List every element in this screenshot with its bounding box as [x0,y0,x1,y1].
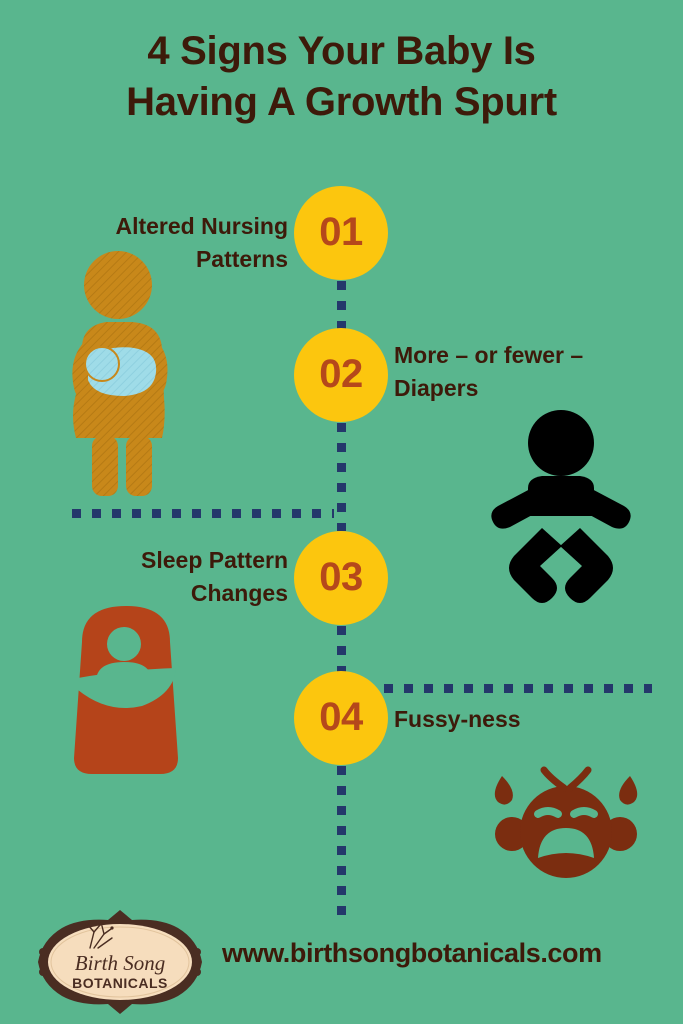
step-number-text-02: 02 [319,354,363,394]
step-number-text-04: 04 [319,697,363,737]
website-url[interactable]: www.birthsongbotanicals.com [222,938,602,969]
crying-baby-face-icon [486,762,646,884]
step-label-04: Fussy-ness [394,703,674,736]
step-label-02: More – or fewer – Diapers [394,339,674,404]
step-number-circle-01[interactable]: 01 [294,186,388,280]
sleeping-baby-bassinet-icon [66,598,186,778]
step-number-circle-03[interactable]: 03 [294,531,388,625]
logo-line-1: Birth Song [75,951,165,975]
infographic-poster: 4 Signs Your Baby Is Having A Growth Spu… [0,0,683,1024]
nursing-mother-icon [62,248,190,498]
step-number-circle-04[interactable]: 04 [294,671,388,765]
connector-line-04-footer [337,766,346,918]
connector-line-03-04 [337,626,346,672]
branch-line-step-03 [72,509,334,518]
brand-logo[interactable]: Birth Song BOTANICALS [32,908,208,1016]
step-number-text-01: 01 [319,212,363,252]
diaper-baby-icon [488,410,634,610]
connector-line-02-03 [337,423,346,531]
connector-line-01-02 [337,281,346,329]
step-number-circle-02[interactable]: 02 [294,328,388,422]
step-number-text-03: 03 [319,557,363,597]
page-title: 4 Signs Your Baby Is Having A Growth Spu… [0,26,683,128]
logo-line-2: BOTANICALS [72,975,168,991]
branch-line-step-04 [364,684,652,693]
